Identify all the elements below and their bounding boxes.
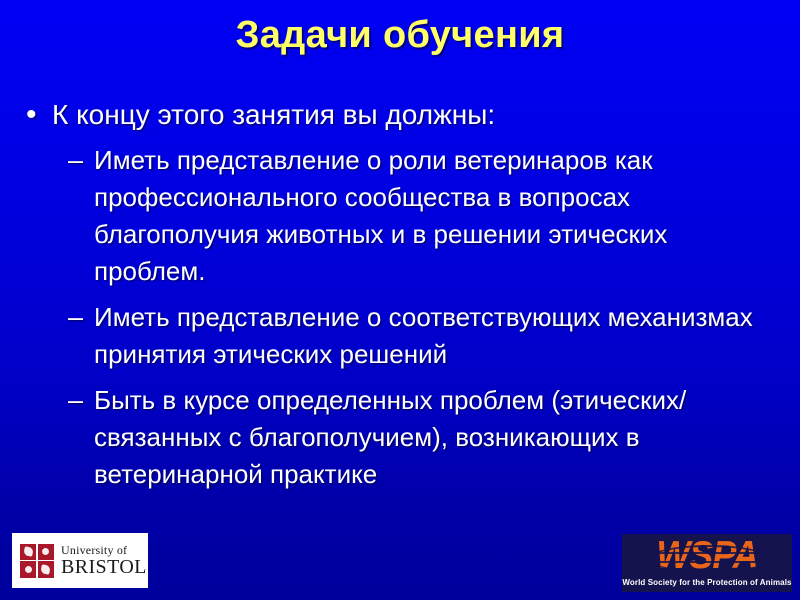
list-item: – Быть в курсе определенных проблем (эти…	[26, 382, 758, 493]
bullet-marker-icon: •	[26, 96, 52, 134]
wspa-tagline: World Society for the Protection of Anim…	[622, 578, 792, 588]
university-of-bristol-logo: University of BRISTOL	[12, 533, 148, 588]
crest-quadrant	[38, 544, 54, 560]
crest-quadrant	[20, 544, 36, 560]
list-item-label: К концу этого занятия вы должны:	[52, 96, 758, 134]
presentation-slide: Задачи обучения • К концу этого занятия …	[0, 0, 800, 600]
crest-quadrant	[20, 561, 36, 577]
slide-body: • К концу этого занятия вы должны: – Име…	[26, 96, 758, 502]
list-item-label: Иметь представление о соответствующих ме…	[94, 299, 758, 373]
bristol-crest-icon	[20, 544, 54, 578]
list-item-label: Быть в курсе определенных проблем (этиче…	[94, 382, 758, 493]
list-item: – Иметь представление о роли ветеринаров…	[26, 142, 758, 290]
list-item-label: Иметь представление о роли ветеринаров к…	[94, 142, 758, 290]
list-item: – Иметь представление о соответствующих …	[26, 299, 758, 373]
bristol-logo-line2: BRISTOL	[61, 557, 147, 577]
dash-marker-icon: –	[68, 142, 94, 179]
dash-marker-icon: –	[68, 299, 94, 336]
list-item: • К концу этого занятия вы должны:	[26, 96, 758, 134]
bristol-logo-line1: University of	[61, 544, 147, 556]
wspa-wordmark: WSPA	[622, 534, 792, 577]
bristol-wordmark: University of BRISTOL	[61, 544, 147, 577]
dash-marker-icon: –	[68, 382, 94, 419]
wspa-logo: WSPA World Society for the Protection of…	[622, 534, 792, 592]
sub-list: – Иметь представление о роли ветеринаров…	[26, 142, 758, 493]
page-title: Задачи обучения	[0, 12, 800, 58]
crest-quadrant	[38, 561, 54, 577]
